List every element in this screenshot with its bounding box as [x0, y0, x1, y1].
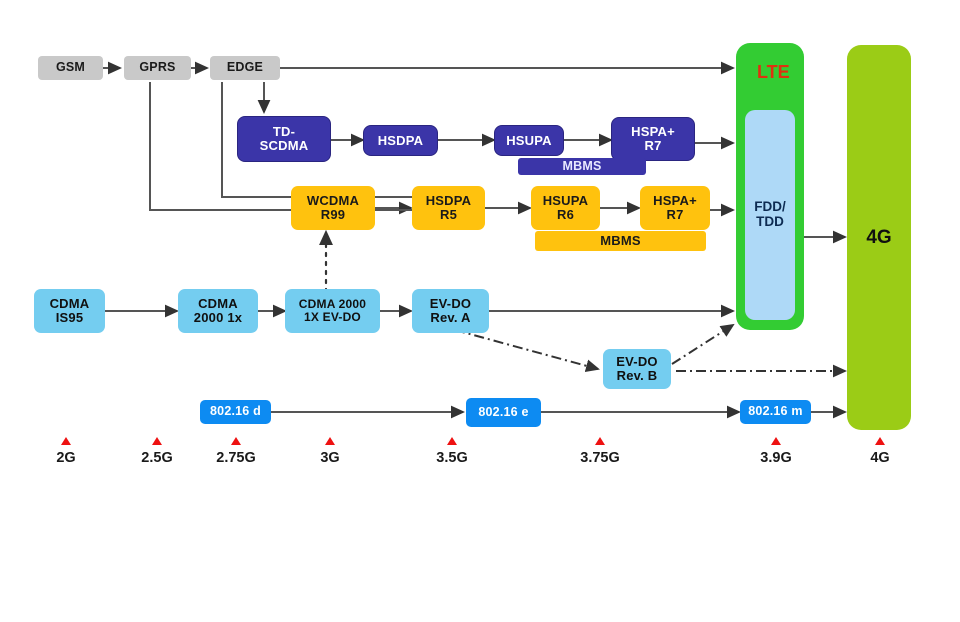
node-label: GPRS: [139, 61, 175, 74]
node-label-line1: WCDMA: [307, 194, 359, 208]
node-td-scdma[interactable]: TD- SCDMA: [238, 117, 330, 161]
node-hsupa-r6[interactable]: HSUPA R6: [531, 186, 600, 230]
node-label-line1: TD-: [273, 125, 295, 139]
timeline-label-2g: 2G: [26, 450, 106, 466]
node-gsm[interactable]: GSM: [38, 56, 103, 80]
timeline-marker-3-5g: [447, 437, 457, 445]
bar-label: MBMS: [600, 234, 641, 248]
node-label: EDGE: [227, 61, 263, 74]
node-802-16-m[interactable]: 802.16 m: [740, 400, 811, 424]
node-label-line1: EV-DO: [430, 297, 471, 311]
node-label-line2: R7: [644, 139, 661, 153]
node-hsdpa-r5[interactable]: HSDPA R5: [412, 186, 485, 230]
node-wcdma-r99[interactable]: WCDMA R99: [291, 186, 375, 230]
node-label-line1: HSPA+: [653, 194, 697, 208]
node-label-line2: Rev. A: [430, 311, 470, 325]
node-label-line2: R6: [557, 208, 574, 222]
timeline-marker-3-75g: [595, 437, 605, 445]
timeline-label-2-5g: 2.5G: [117, 450, 197, 466]
node-label-line2: IS95: [56, 311, 84, 325]
node-label-line1: FDD/: [754, 200, 786, 215]
node-evdo-rev-b[interactable]: EV-DO Rev. B: [603, 349, 671, 389]
node-cdma-2000-1x[interactable]: CDMA 2000 1x: [178, 289, 258, 333]
node-802-16-e[interactable]: 802.16 e: [466, 398, 541, 427]
node-fdd-tdd[interactable]: FDD/ TDD: [745, 110, 795, 320]
timeline-label-3g: 3G: [290, 450, 370, 466]
node-label-line2: TDD: [756, 215, 784, 230]
node-hsdpa[interactable]: HSDPA: [364, 126, 437, 155]
node-gprs[interactable]: GPRS: [124, 56, 191, 80]
node-label-line2: 2000 1x: [194, 311, 242, 325]
diagram-canvas: GSM GPRS EDGE TD- SCDMA HSDPA HSUPA HSPA…: [0, 0, 960, 622]
node-label-line1: EV-DO: [616, 355, 657, 369]
node-label: 802.16 m: [748, 405, 802, 418]
node-label-line2: SCDMA: [260, 139, 309, 153]
node-label-line1: HSDPA: [426, 194, 472, 208]
node-label-line1: HSPA+: [631, 125, 675, 139]
node-label: 802.16 e: [478, 406, 528, 419]
node-label: 4G: [866, 227, 891, 249]
node-edge[interactable]: EDGE: [210, 56, 280, 80]
timeline-marker-4g: [875, 437, 885, 445]
node-evdo-rev-a[interactable]: EV-DO Rev. A: [412, 289, 489, 333]
bar-label: MBMS: [563, 160, 602, 173]
timeline-marker-2g: [61, 437, 71, 445]
timeline-marker-3g: [325, 437, 335, 445]
node-802-16-d[interactable]: 802.16 d: [200, 400, 271, 424]
timeline-label-3-75g: 3.75G: [560, 450, 640, 466]
node-label-line1: CDMA: [50, 297, 90, 311]
node-hspa-plus-r7-yellow[interactable]: HSPA+ R7: [640, 186, 710, 230]
bar-mbms-yellow[interactable]: MBMS: [535, 231, 706, 251]
node-label: GSM: [56, 61, 85, 74]
node-label: HSUPA: [506, 134, 552, 148]
timeline-label-4g: 4G: [840, 450, 920, 466]
node-4g[interactable]: 4G: [847, 45, 911, 430]
node-lte-label: LTE: [757, 62, 790, 83]
node-label-line1: CDMA: [198, 297, 238, 311]
node-label-line1: HSUPA: [543, 194, 589, 208]
timeline-marker-2-5g: [152, 437, 162, 445]
timeline-marker-3-9g: [771, 437, 781, 445]
node-label: 802.16 d: [210, 405, 261, 418]
node-label-line2: R5: [440, 208, 457, 222]
node-label: HSDPA: [378, 134, 424, 148]
node-label-line2: Rev. B: [617, 369, 658, 383]
timeline-marker-2-75g: [231, 437, 241, 445]
node-hspa-plus-r7-navy[interactable]: HSPA+ R7: [612, 118, 694, 160]
timeline-label-3-9g: 3.9G: [736, 450, 816, 466]
node-label-line2: R99: [321, 208, 345, 222]
timeline-label-3-5g: 3.5G: [412, 450, 492, 466]
bar-mbms-navy[interactable]: MBMS: [518, 158, 646, 175]
node-cdma-2000-1x-evdo[interactable]: CDMA 2000 1X EV-DO: [285, 289, 380, 333]
node-label-line2: 1X EV-DO: [304, 311, 361, 324]
timeline-label-2-75g: 2.75G: [196, 450, 276, 466]
node-cdma-is95[interactable]: CDMA IS95: [34, 289, 105, 333]
node-hsupa[interactable]: HSUPA: [495, 126, 563, 155]
node-label-line2: R7: [666, 208, 683, 222]
